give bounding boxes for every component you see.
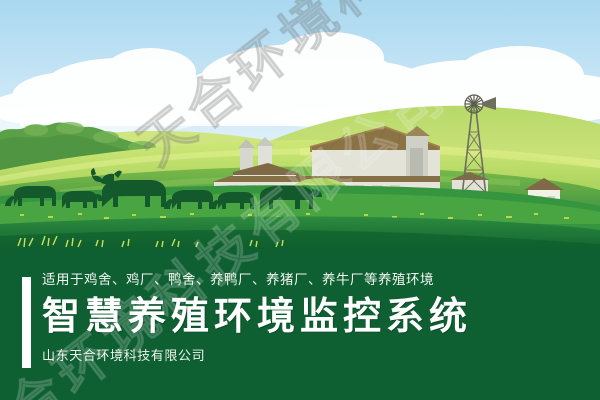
company-name: 山东天合环境科技有限公司 (42, 347, 582, 365)
banner-text-block: 适用于鸡舍、鸡厂、鸭舍、养鸭厂、养猪厂、养牛厂等养殖环境 智慧养殖环境监控系统 … (42, 271, 582, 365)
page-title: 智慧养殖环境监控系统 (42, 293, 582, 341)
title-banner: 适用于鸡舍、鸡厂、鸭舍、养鸭厂、养猪厂、养牛厂等养殖环境 智慧养殖环境监控系统 … (0, 249, 600, 400)
poster-root: 适用于鸡舍、鸡厂、鸭舍、养鸭厂、养猪厂、养牛厂等养殖环境 智慧养殖环境监控系统 … (0, 0, 600, 400)
accent-bar (22, 277, 31, 368)
farm-illustration (0, 0, 600, 252)
banner-subtitle: 适用于鸡舍、鸡厂、鸭舍、养鸭厂、养猪厂、养牛厂等养殖环境 (42, 271, 582, 289)
